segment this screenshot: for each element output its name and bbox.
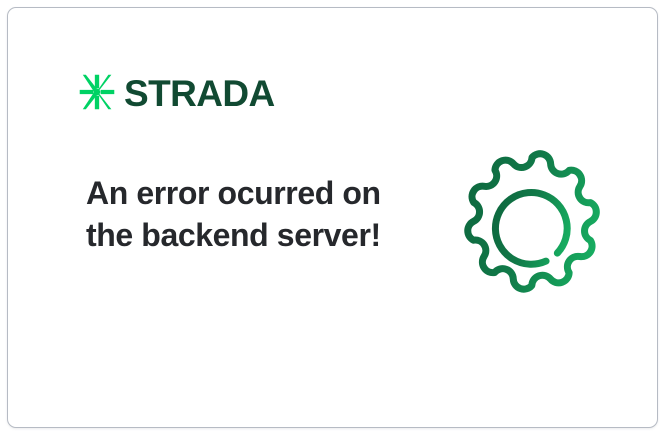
- error-card: STRADA An error ocurred on the backend s…: [7, 7, 658, 428]
- brand-logo: STRADA: [79, 66, 275, 118]
- strada-asterisk-icon: [79, 74, 115, 110]
- brand-wordmark: STRADA: [124, 75, 275, 112]
- gear-cog-icon: [454, 150, 610, 307]
- error-message: An error ocurred on the backend server!: [86, 172, 386, 256]
